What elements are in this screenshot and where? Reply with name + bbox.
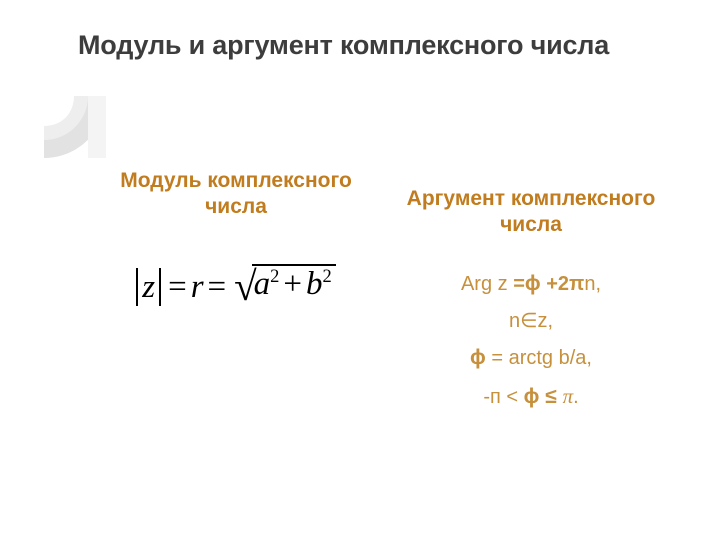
- equals-sign: =: [486, 347, 509, 369]
- equation-arg-z: Arg z =ϕ +2πn,: [400, 265, 662, 303]
- swirl-decoration-icon: [44, 96, 106, 158]
- n-variable: n: [509, 310, 520, 332]
- column-argument: Аргумент комплексного числа Arg z =ϕ +2π…: [400, 186, 662, 417]
- square-root-group: √a2+b2: [230, 263, 336, 304]
- slide-canvas: Модуль и аргумент комплексного числа Мод…: [0, 0, 720, 540]
- set-z: z,: [537, 310, 553, 332]
- phi-symbol: ϕ: [524, 385, 540, 408]
- heading-argument: Аргумент комплексного числа: [400, 186, 662, 239]
- exponent-b: 2: [323, 266, 332, 286]
- phi-symbol: ϕ: [525, 272, 541, 295]
- term-b: b: [306, 266, 323, 302]
- formula-modulus: z=r=√a2+b2: [96, 263, 376, 307]
- equals-sign-2: =: [208, 269, 227, 305]
- variable-z: z: [142, 269, 155, 305]
- page-title: Модуль и аргумент комплексного числа: [26, 28, 698, 63]
- equation-phi-arctg: ϕ = arctg b/a,: [400, 339, 662, 377]
- arctg-expression: arctg b/a,: [509, 347, 592, 369]
- equals-sign: =: [513, 273, 525, 295]
- exponent-a: 2: [270, 266, 279, 286]
- less-than-sign: <: [501, 386, 524, 408]
- heading-modulus: Модуль комплексного числа: [96, 168, 376, 221]
- plus-sign: +: [283, 266, 302, 302]
- two-pi-term: 2π: [558, 273, 584, 295]
- n-term: n,: [584, 273, 601, 295]
- pi-symbol: π: [563, 384, 574, 408]
- element-of-icon: ∈: [520, 310, 537, 332]
- equals-sign-1: =: [168, 269, 187, 305]
- equation-n-in-z: n∈z,: [400, 303, 662, 339]
- period: .: [573, 386, 579, 408]
- absolute-value-z: z: [136, 268, 161, 307]
- equation-list: Arg z =ϕ +2πn, n∈z, ϕ = arctg b/a, -п < …: [400, 265, 662, 417]
- plus-sign: +: [541, 273, 558, 295]
- arg-z-label: Arg z: [461, 273, 513, 295]
- radicand: a2+b2: [252, 264, 336, 301]
- term-a: a: [254, 266, 271, 302]
- less-or-equal-sign: ≤: [539, 385, 562, 408]
- equation-phi-range: -п < ϕ ≤ π.: [400, 377, 662, 416]
- negative-pi: -п: [483, 386, 501, 408]
- column-modulus: Модуль комплексного числа z=r=√a2+b2: [96, 168, 376, 306]
- phi-symbol: ϕ: [470, 346, 486, 369]
- variable-r: r: [191, 269, 204, 305]
